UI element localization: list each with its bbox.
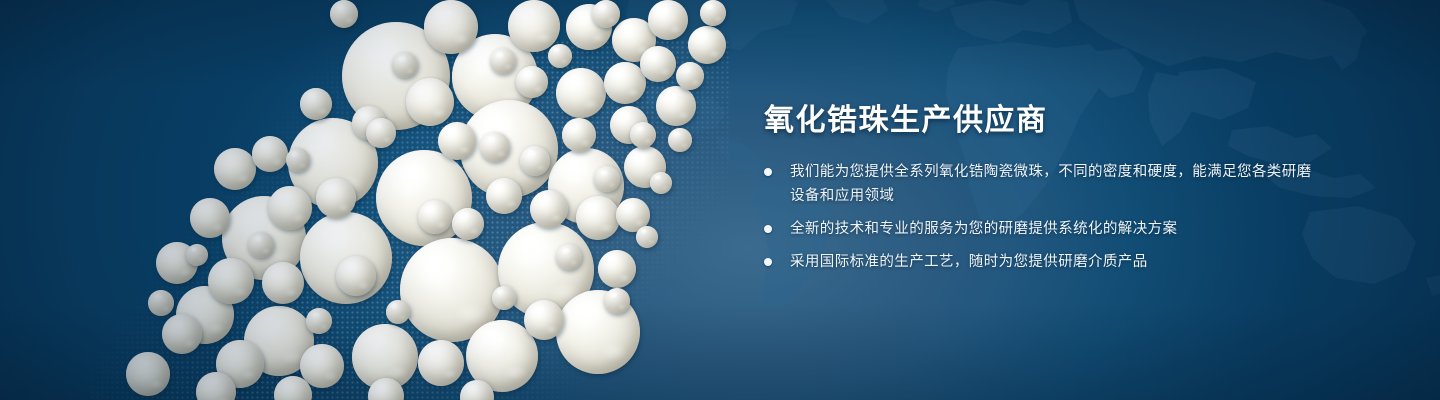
bullet-dot-icon [764, 225, 772, 233]
list-item: 采用国际标准的生产工艺，随时为您提供研磨介质产品 [764, 250, 1324, 274]
bullet-dot-icon [764, 168, 772, 176]
list-item-text: 采用国际标准的生产工艺，随时为您提供研磨介质产品 [790, 254, 1148, 270]
list-item-text: 我们能为您提供全系列氧化锆陶瓷微珠，不同的密度和硬度，能满足您各类研磨设备和应用… [790, 164, 1312, 204]
hero-banner: 氧化锆珠生产供应商 我们能为您提供全系列氧化锆陶瓷微珠，不同的密度和硬度，能满足… [0, 0, 1440, 400]
banner-headline: 氧化锆珠生产供应商 [764, 104, 1324, 138]
banner-copy: 氧化锆珠生产供应商 我们能为您提供全系列氧化锆陶瓷微珠，不同的密度和硬度，能满足… [764, 104, 1324, 274]
feature-list: 我们能为您提供全系列氧化锆陶瓷微珠，不同的密度和硬度，能满足您各类研磨设备和应用… [764, 160, 1324, 274]
list-item: 我们能为您提供全系列氧化锆陶瓷微珠，不同的密度和硬度，能满足您各类研磨设备和应用… [764, 160, 1324, 208]
list-item-text: 全新的技术和专业的服务为您的研磨提供系统化的解决方案 [790, 221, 1177, 237]
bullet-dot-icon [764, 258, 772, 266]
list-item: 全新的技术和专业的服务为您的研磨提供系统化的解决方案 [764, 217, 1324, 241]
